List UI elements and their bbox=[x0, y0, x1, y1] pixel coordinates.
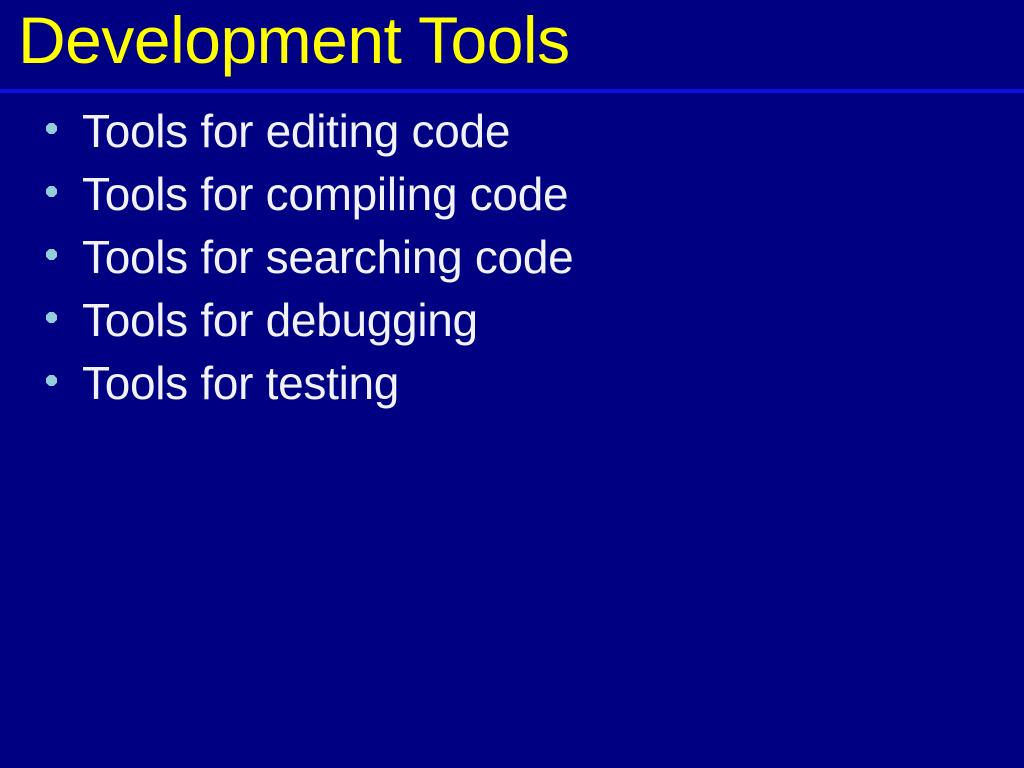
title-divider bbox=[0, 89, 1024, 93]
list-item-label: Tools for compiling code bbox=[82, 163, 1024, 226]
bullet-list: Tools for editing code Tools for compili… bbox=[0, 100, 1024, 415]
list-item: Tools for compiling code bbox=[0, 163, 1024, 226]
presentation-slide: Development Tools Tools for editing code… bbox=[0, 0, 1024, 768]
page-title: Development Tools bbox=[18, 0, 570, 84]
bullet-point-icon bbox=[46, 123, 57, 134]
bullet-point-icon bbox=[46, 375, 57, 386]
list-item-label: Tools for searching code bbox=[82, 226, 1024, 289]
list-item-label: Tools for editing code bbox=[82, 100, 1024, 163]
list-item-label: Tools for debugging bbox=[82, 289, 1024, 352]
list-item: Tools for editing code bbox=[0, 100, 1024, 163]
bullet-point-icon bbox=[46, 312, 57, 323]
list-item: Tools for searching code bbox=[0, 226, 1024, 289]
list-item-label: Tools for testing bbox=[82, 352, 1024, 415]
bullet-point-icon bbox=[46, 249, 57, 260]
list-item: Tools for debugging bbox=[0, 289, 1024, 352]
list-item: Tools for testing bbox=[0, 352, 1024, 415]
bullet-point-icon bbox=[46, 186, 57, 197]
slide-title-area: Development Tools bbox=[0, 0, 1024, 89]
